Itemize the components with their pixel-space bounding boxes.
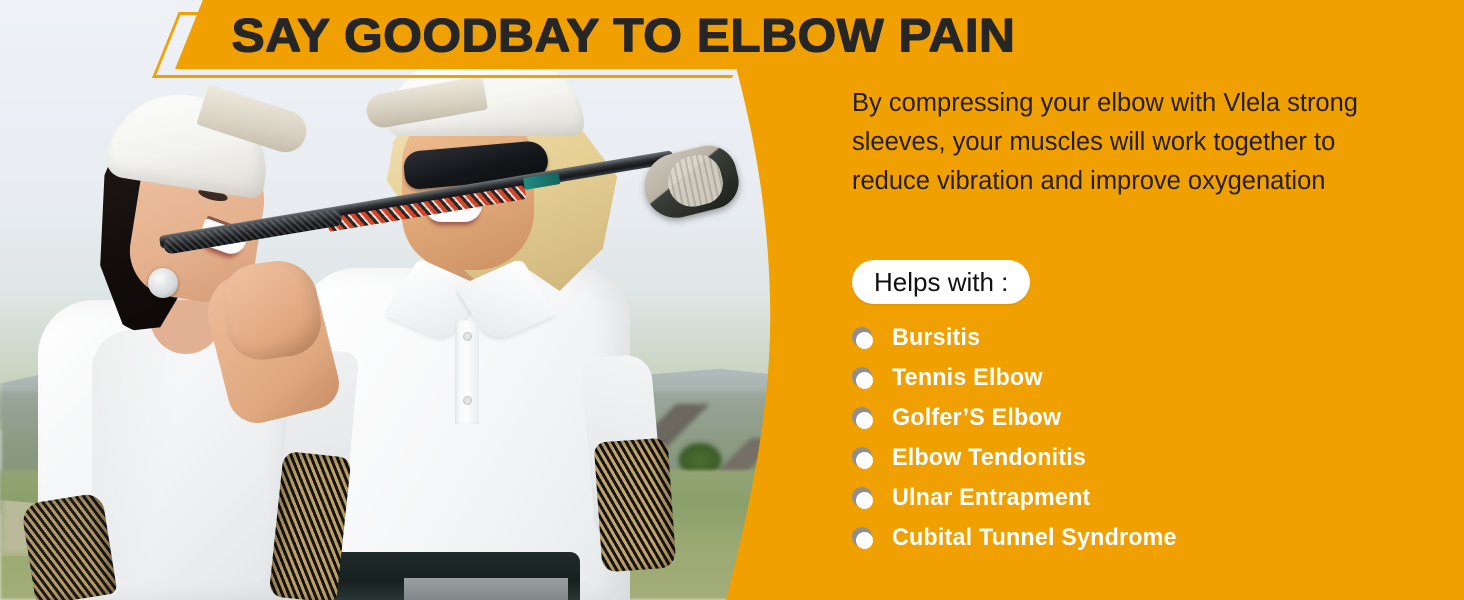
list-item: Cubital Tunnel Syndrome [852,518,1372,558]
shirt-button [463,332,472,341]
description-text: By compressing your elbow with Vlela str… [852,84,1412,201]
list-item: Ulnar Entrapment [852,478,1372,518]
bullet-circle-icon [852,447,874,469]
page-title: SAY GOODBAY TO ELBOW PAIN [231,3,1111,65]
woman-shirt-fold [92,330,212,580]
bullet-circle-icon [852,487,874,509]
woman-compression-sleeve [21,492,118,600]
man-compression-sleeve-right [594,438,677,573]
bullet-circle-icon [852,527,874,549]
list-item: Golfer’S Elbow [852,398,1372,438]
bullet-circle-icon [852,327,874,349]
shirt-button [463,396,472,405]
list-item: Bursitis [852,318,1372,358]
bullet-circle-icon [852,367,874,389]
list-item: Elbow Tendonitis [852,438,1372,478]
list-item-label: Ulnar Entrapment [892,484,1090,512]
list-item-label: Bursitis [892,324,980,352]
list-item: Tennis Elbow [852,358,1372,398]
helps-with-badge: Helps with : [852,260,1030,304]
list-item-label: Cubital Tunnel Syndrome [892,524,1177,552]
bullet-circle-icon [852,407,874,429]
photo-scene [0,0,800,600]
list-item-label: Golfer’S Elbow [892,404,1061,432]
list-item-label: Elbow Tendonitis [892,444,1086,472]
golf-club-grip-cap [148,268,178,298]
conditions-list: Bursitis Tennis Elbow Golfer’S Elbow Elb… [852,318,1372,558]
hero-photo [0,0,800,600]
promo-banner: SAY GOODBAY TO ELBOW PAIN By compressing… [0,0,1464,600]
list-item-label: Tennis Elbow [892,364,1043,392]
man-trousers [404,578,568,600]
